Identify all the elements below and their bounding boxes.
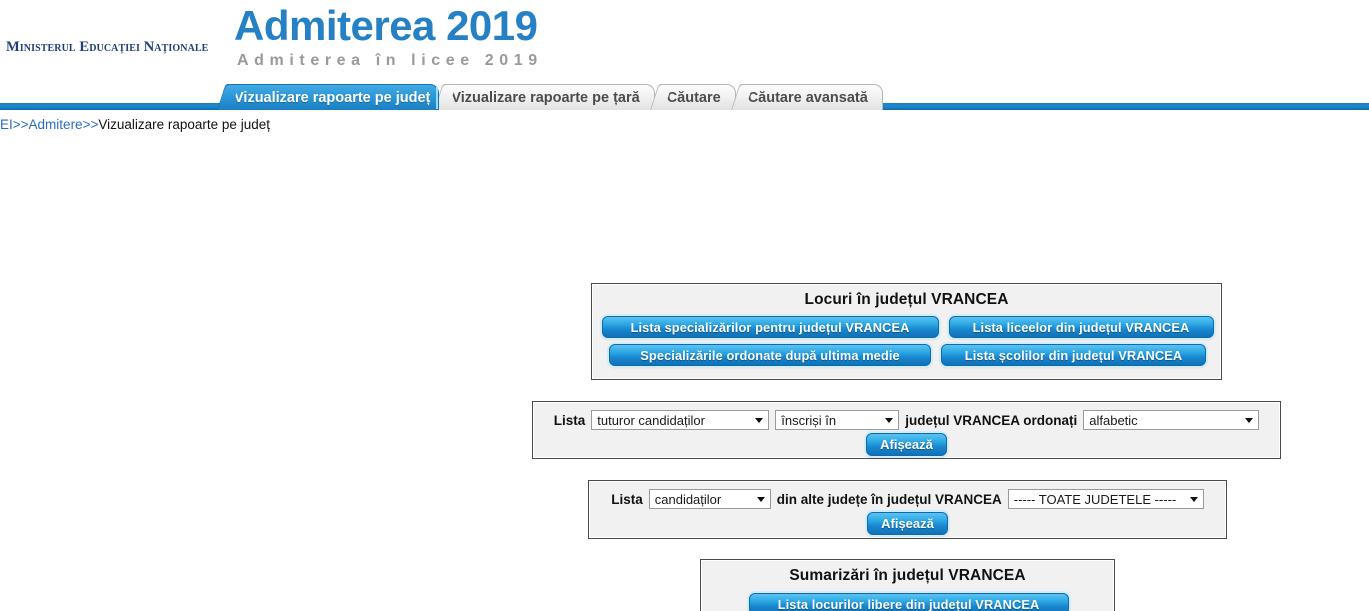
select-judet-provenienta[interactable]: ----- TOATE JUDETELE ----- [1008, 489, 1204, 509]
panel-locuri-row-1: Lista specializărilor pentru județul VRA… [592, 316, 1223, 338]
panel-lista-candidati-alte-judete: Lista candidaților din alte județe în ju… [588, 480, 1227, 539]
panel-sumarizari-title: Sumarizări în județul VRANCEA [701, 560, 1114, 585]
breadcrumb: SEI >> Admitere >> Vizualizare rapoarte … [0, 110, 1369, 138]
afiseaza-alte-judete-button[interactable]: Afișează [867, 512, 948, 535]
tab-rapoarte-tara[interactable]: Vizualizare rapoarte pe țară [442, 84, 654, 110]
select-criteriu-ordonare[interactable]: alfabetic [1083, 410, 1259, 430]
breadcrumb-link-admitere[interactable]: Admitere [29, 117, 83, 132]
panel-locuri-row-2: Specializările ordonate după ultima medi… [592, 344, 1223, 366]
lista-label: Lista [611, 492, 643, 507]
lista-scolilor-judet-button[interactable]: Lista școlilor din județul VRANCEA [941, 344, 1206, 366]
tab-label: Vizualizare rapoarte pe țară [451, 90, 639, 106]
breadcrumb-link-sei[interactable]: SEI [0, 117, 13, 132]
tab-rapoarte-judet[interactable]: Vizualizare rapoarte pe județ [225, 84, 439, 110]
tab-label: Vizualizare rapoarte pe județ [234, 90, 430, 106]
afiseaza-inscrisi-button[interactable]: Afișează [866, 433, 947, 456]
select-tip-candidati[interactable]: candidaților [649, 489, 771, 509]
chevron-down-icon [755, 418, 763, 423]
select-value: înscriși în [781, 413, 836, 428]
panel-locuri-button-grid: Lista specializărilor pentru județul VRA… [592, 316, 1223, 372]
main-content: Locuri în județul VRANCEA Lista speciali… [0, 138, 1369, 611]
select-value: candidaților [655, 492, 722, 507]
panel-lista-candidati-inscrisi: Lista tuturor candidaților înscriși în j… [532, 401, 1281, 459]
chevron-down-icon [1245, 418, 1253, 423]
chevron-down-icon [757, 497, 765, 502]
judet-ordonati-label: județul VRANCEA ordonați [905, 413, 1077, 428]
lista-alte-judete-submit-row: Afișează [589, 509, 1226, 535]
breadcrumb-separator: >> [83, 117, 99, 132]
lista-label: Lista [554, 413, 586, 428]
lista-specializarilor-judet-button[interactable]: Lista specializărilor pentru județul VRA… [602, 316, 939, 338]
select-tip-candidati[interactable]: tuturor candidaților [591, 410, 769, 430]
panel-locuri-title: Locuri în județul VRANCEA [592, 284, 1221, 309]
chevron-down-icon [1190, 497, 1198, 502]
tab-label: Căutare [667, 90, 721, 106]
ministry-logo-text: Ministerul Educației Naționale [6, 39, 208, 56]
select-value: alfabetic [1089, 413, 1137, 428]
site-subtitle: Admiterea în licee 2019 [237, 52, 543, 70]
tab-bar: Vizualizare rapoarte pe județ Vizualizar… [0, 78, 1369, 110]
site-title: Admiterea 2019 [234, 5, 538, 47]
panel-locuri-judet: Locuri în județul VRANCEA Lista speciali… [591, 283, 1222, 380]
select-stare-inscriere[interactable]: înscriși în [775, 410, 899, 430]
chevron-down-icon [885, 418, 893, 423]
breadcrumb-separator: >> [13, 117, 29, 132]
select-value: tuturor candidaților [597, 413, 705, 428]
lista-inscrisi-submit-row: Afișează [533, 430, 1280, 456]
specializari-ordonate-ultima-medie-button[interactable]: Specializările ordonate după ultima medi… [609, 344, 931, 366]
breadcrumb-current-page: Vizualizare rapoarte pe județ [98, 117, 270, 132]
din-alte-judete-label: din alte județe în județul VRANCEA [777, 492, 1002, 507]
lista-inscrisi-form-row: Lista tuturor candidaților înscriși în j… [533, 402, 1280, 430]
tab-label: Căutare avansată [748, 90, 868, 106]
panel-sumarizari-button-grid: Lista locurilor libere din județul VRANC… [701, 593, 1116, 611]
page-header: Ministerul Educației Naționale Admiterea… [0, 0, 1369, 78]
select-value: ----- TOATE JUDETELE ----- [1014, 492, 1177, 507]
panel-sumarizari-judet: Sumarizări în județul VRANCEA Lista locu… [700, 559, 1115, 611]
lista-locurilor-libere-button[interactable]: Lista locurilor libere din județul VRANC… [749, 593, 1069, 611]
tab-cautare-avansata[interactable]: Căutare avansată [739, 84, 883, 110]
panel-sumarizari-row-1: Lista locurilor libere din județul VRANC… [701, 593, 1116, 611]
tab-list: Vizualizare rapoarte pe județ Vizualizar… [225, 82, 886, 110]
lista-alte-judete-form-row: Lista candidaților din alte județe în ju… [589, 481, 1226, 509]
tab-cautare[interactable]: Căutare [658, 84, 736, 110]
lista-liceelor-judet-button[interactable]: Lista liceelor din județul VRANCEA [949, 316, 1214, 338]
